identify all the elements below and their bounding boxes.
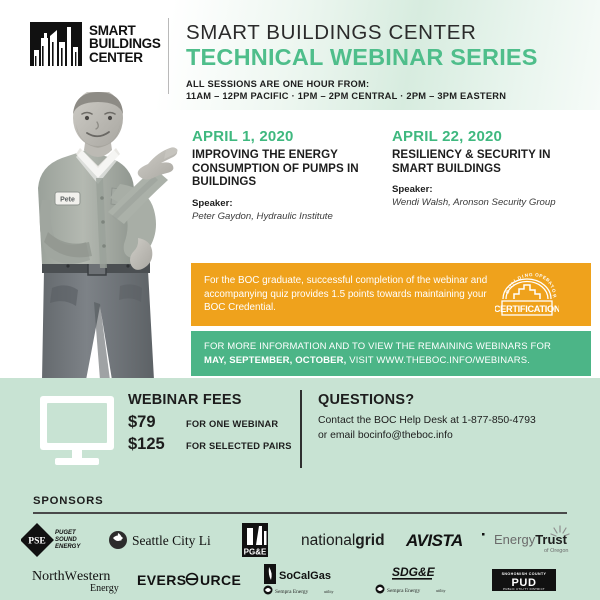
svg-text:PSE: PSE [28, 536, 45, 546]
session-times: ALL SESSIONS ARE ONE HOUR FROM: 11AM – 1… [186, 79, 506, 102]
sponsor-logo-northwestern-energy: NorthWestern Energy [20, 560, 132, 600]
svg-text:SNOHOMISH COUNTY: SNOHOMISH COUNTY [502, 572, 547, 576]
svg-text:Pete: Pete [60, 197, 75, 204]
sponsors-title: SPONSORS [33, 495, 103, 507]
sponsor-logo-socalgas: SoCalGas Sempra Energy utility [244, 560, 356, 600]
svg-text:URCE: URCE [200, 572, 241, 588]
fee-row: $125 FOR SELECTED PAIRS [128, 435, 292, 454]
svg-text:G: G [529, 272, 533, 277]
page-title: SMART BUILDINGS CENTER [186, 22, 538, 44]
smart-buildings-center-logo: SMART BUILDINGS CENTER [30, 22, 161, 66]
webinar-item-2: APRIL 22, 2020 RESILIENCY & SECURITY IN … [392, 128, 592, 223]
svg-text:AVISTA: AVISTA [405, 531, 463, 550]
svg-text:EnergyTrust: EnergyTrust [494, 532, 568, 547]
skyline-icon [30, 22, 82, 66]
sponsor-logo-sdge: SDG&E Sempra Energy utility [356, 560, 468, 600]
help-desk-phone-line[interactable]: Contact the BOC Help Desk at 1-877-850-4… [318, 414, 583, 429]
questions-title: QUESTIONS? [318, 392, 583, 408]
svg-text:Sempra Energy: Sempra Energy [387, 588, 421, 594]
sponsor-logo-puget-sound-energy: PSE PUGET SOUND ENERGY [20, 520, 107, 560]
webinar-list: APRIL 1, 2020 IMPROVING THE ENERGY CONSU… [192, 128, 592, 223]
logo-line-2: BUILDINGS [89, 37, 161, 50]
svg-text:Sempra Energy: Sempra Energy [275, 589, 309, 595]
svg-text:ENERGY: ENERGY [55, 544, 81, 550]
sponsor-logo-pge: PG&E [211, 520, 298, 560]
svg-text:PUGET: PUGET [55, 530, 77, 536]
svg-text:NorthWestern: NorthWestern [32, 568, 110, 584]
fee-row: $79 FOR ONE WEBINAR [128, 413, 292, 432]
webinars-url-text[interactable]: VISIT WWW.THEBOC.INFO/WEBINARS. [346, 355, 530, 366]
svg-text:of Oregon: of Oregon [544, 548, 568, 554]
sponsor-logo-national-grid: nationalgrid [299, 520, 403, 560]
svg-text:I: I [521, 273, 524, 278]
svg-text:SDG&E: SDG&E [392, 565, 436, 579]
sponsors-divider [33, 512, 567, 514]
svg-text:utility: utility [436, 588, 446, 593]
speaker-name: Peter Gaydon, Hydraulic Institute [192, 210, 392, 223]
sponsor-logo-eversource: EVERS URCE [132, 560, 244, 600]
boc-certification-badge-icon: B U I L D I N G O P E R A T O R [495, 271, 559, 319]
webinar-date: APRIL 1, 2020 [192, 128, 392, 145]
header-title-group: SMART BUILDINGS CENTER TECHNICAL WEBINAR… [186, 22, 538, 70]
logo-line-1: SMART [89, 24, 161, 37]
svg-text:EVERS: EVERS [137, 572, 186, 588]
webinar-title: IMPROVING THE ENERGY CONSUMPTION OF PUMP… [192, 148, 392, 189]
sponsor-logo-avista: AVISTA [403, 520, 490, 560]
svg-text:Energy: Energy [90, 583, 119, 594]
svg-text:PG&E: PG&E [244, 548, 267, 557]
questions-block: QUESTIONS? Contact the BOC Help Desk at … [318, 392, 583, 443]
svg-text:SoCalGas: SoCalGas [279, 570, 331, 582]
more-info-line-2: MAY, SEPTEMBER, OCTOBER, VISIT WWW.THEBO… [204, 354, 591, 368]
speaker-label: Speaker: [392, 184, 592, 196]
speaker-name: Wendi Walsh, Aronson Security Group [392, 196, 592, 209]
fee-amount: $79 [128, 413, 186, 432]
sponsor-logo-seattle-city-light: Seattle City Light [107, 520, 211, 560]
fee-amount: $125 [128, 435, 186, 454]
webinar-fees-title: WEBINAR FEES [128, 392, 292, 408]
svg-text:utility: utility [324, 589, 334, 594]
sponsors-row-2: NorthWestern Energy EVERS URCE SoCalGas [20, 560, 580, 600]
webinar-item-1: APRIL 1, 2020 IMPROVING THE ENERGY CONSU… [192, 128, 392, 223]
session-times-line-2: 11AM – 12PM PACIFIC · 1PM – 2PM CENTRAL … [186, 91, 506, 103]
fee-label: FOR ONE WEBINAR [186, 419, 278, 429]
webinar-series-poster: SMART BUILDINGS CENTER SMART BUILDINGS C… [0, 0, 600, 600]
section-divider [300, 390, 302, 468]
svg-text:Seattle City Light: Seattle City Light [132, 533, 211, 548]
fee-label: FOR SELECTED PAIRS [186, 441, 292, 451]
logo-line-3: CENTER [89, 51, 161, 64]
svg-text:nationalgrid: nationalgrid [301, 532, 385, 549]
more-info-line-1: FOR MORE INFORMATION AND TO VIEW THE REM… [204, 340, 591, 354]
session-times-line-1: ALL SESSIONS ARE ONE HOUR FROM: [186, 79, 506, 91]
boc-credential-box: For the BOC graduate, successful complet… [191, 263, 591, 326]
webinar-fees-block: WEBINAR FEES $79 FOR ONE WEBINAR $125 FO… [128, 392, 292, 454]
boc-credential-text: For the BOC graduate, successful complet… [191, 274, 489, 315]
help-desk-email-line[interactable]: or email bocinfo@theboc.info [318, 429, 583, 444]
svg-text:SOUND: SOUND [55, 537, 77, 543]
speaker-label: Speaker: [192, 198, 392, 210]
more-info-bar: FOR MORE INFORMATION AND TO VIEW THE REM… [191, 331, 591, 376]
page-subtitle: TECHNICAL WEBINAR SERIES [186, 45, 538, 70]
monitor-icon [38, 394, 116, 468]
svg-text:PUBLIC UTILITY DISTRICT: PUBLIC UTILITY DISTRICT [503, 587, 545, 591]
svg-text:CERTIFICATION: CERTIFICATION [495, 304, 559, 314]
sponsors-row-1: PSE PUGET SOUND ENERGY Seattle City Ligh… [20, 520, 580, 560]
sponsor-logo-energy-trust-of-oregon: EnergyTrust of Oregon [490, 520, 580, 560]
webinar-date: APRIL 22, 2020 [392, 128, 592, 145]
remaining-months: MAY, SEPTEMBER, OCTOBER, [204, 355, 346, 366]
logo-wordmark: SMART BUILDINGS CENTER [89, 24, 161, 64]
webinar-title: RESILIENCY & SECURITY IN SMART BUILDINGS [392, 148, 592, 175]
sponsor-logo-snohomish-county-pud: SNOHOMISH COUNTY PUD PUBLIC UTILITY DIST… [468, 560, 580, 600]
presenter-photo: Pete [8, 92, 188, 380]
svg-text:R: R [552, 293, 558, 299]
header-divider [168, 18, 169, 94]
